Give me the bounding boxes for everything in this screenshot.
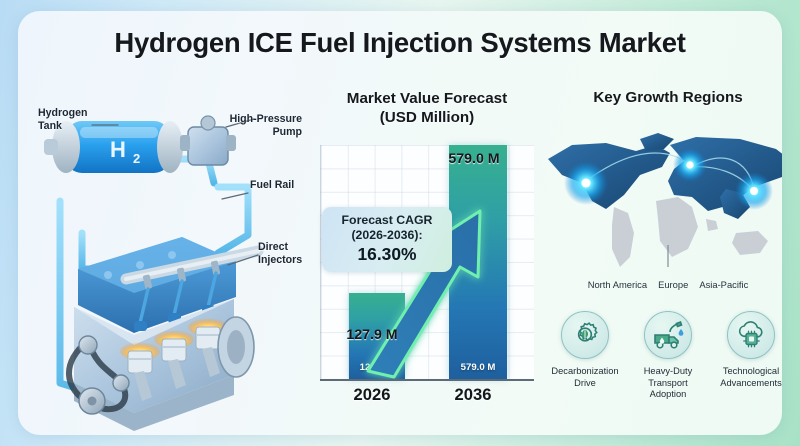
bar-top-label-2026: 127.9 M <box>332 327 412 343</box>
cagr-label: Forecast CAGR (2026-2036): <box>328 213 446 243</box>
driver-decarbonization-drive[interactable]: Decarbonization Drive <box>546 311 624 401</box>
label-high-pressure-pump: High-Pressure Pump <box>210 113 302 138</box>
x-tick-2026: 2026 <box>330 385 414 405</box>
cagr-value: 16.30% <box>328 244 446 265</box>
region-label-asia-pacific: Asia-Pacific <box>699 279 748 290</box>
region-label-row: North America Europe Asia-Pacific <box>540 279 782 290</box>
chart-title: Market Value Forecast (USD Million) <box>316 89 538 127</box>
cagr-callout-box: Forecast CAGR (2026-2036): 16.30% <box>322 207 452 272</box>
region-label-europe: Europe <box>658 279 688 290</box>
world-map-icon <box>540 115 782 275</box>
label-direct-injectors: Direct Injectors <box>258 241 302 266</box>
growth-drivers-row: Decarbonization Drive <box>540 311 782 401</box>
engine-diagram-panel: H 2 <box>22 83 314 435</box>
market-value-chart-panel: Market Value Forecast (USD Million) 127.… <box>316 89 538 435</box>
fuel-truck-icon <box>644 311 692 359</box>
driver-label: Heavy-Duty Transport Adoption <box>629 366 707 401</box>
driver-heavy-duty-transport[interactable]: Heavy-Duty Transport Adoption <box>629 311 707 401</box>
driver-label: Decarbonization Drive <box>546 366 624 389</box>
gear-leaf-icon <box>561 311 609 359</box>
key-growth-regions-panel: Key Growth Regions <box>540 89 782 435</box>
infographic-card: Hydrogen ICE Fuel Injection Systems Mark… <box>18 11 782 435</box>
cloud-chip-icon <box>727 311 775 359</box>
bar-top-label-2036: 579.0 M <box>430 151 518 167</box>
chart-x-axis <box>320 379 534 381</box>
driver-technological-advancements[interactable]: Technological Advancements <box>712 311 782 401</box>
svg-text:H: H <box>110 137 126 162</box>
driver-label: Technological Advancements <box>712 366 782 389</box>
x-tick-2036: 2036 <box>430 385 516 405</box>
label-hydrogen-tank: Hydrogen Tank <box>38 107 87 132</box>
svg-text:2: 2 <box>133 151 140 166</box>
flywheel-shape <box>218 317 254 377</box>
regions-title: Key Growth Regions <box>540 89 782 106</box>
page-title: Hydrogen ICE Fuel Injection Systems Mark… <box>18 27 782 59</box>
region-label-north-america: North America <box>588 279 647 290</box>
label-fuel-rail: Fuel Rail <box>250 179 294 192</box>
